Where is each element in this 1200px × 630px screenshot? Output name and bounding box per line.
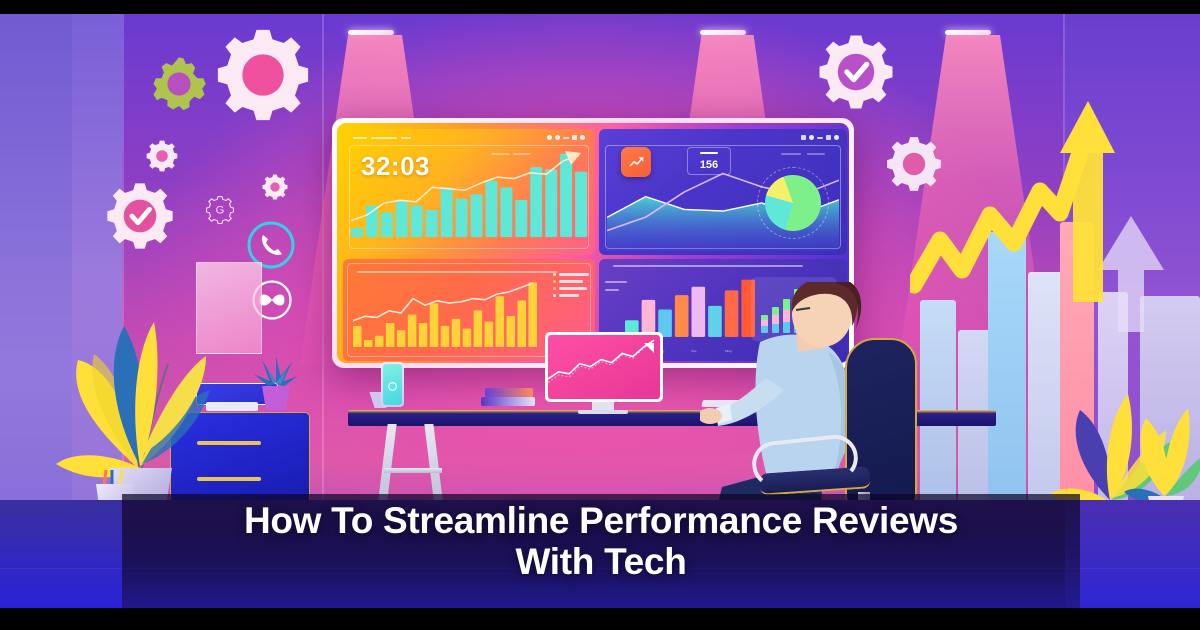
gear-icon-pink — [216, 28, 310, 122]
spotlight-fixture-left — [348, 30, 394, 35]
book-bottom — [481, 397, 535, 406]
svg-text:G: G — [216, 204, 225, 216]
panel-analytics-overview[interactable]: 156 — [599, 129, 847, 255]
title-line-2: With Tech — [122, 541, 1080, 582]
dots-icon[interactable] — [834, 135, 839, 140]
circle-icon[interactable] — [809, 135, 814, 140]
flag-icon[interactable] — [826, 135, 831, 140]
secondary-monitor[interactable] — [545, 332, 663, 402]
gear-icon-green — [150, 55, 208, 113]
succulent-small — [248, 352, 304, 416]
panel-toolbar-top-right[interactable] — [801, 135, 839, 140]
session-bar-chart — [351, 147, 587, 251]
letterbox-top — [0, 0, 1200, 14]
performance-bar-chart — [353, 277, 537, 357]
title-line-1: How To Streamline Performance Reviews — [122, 500, 1080, 541]
dots-icon[interactable] — [580, 135, 585, 140]
panel-session-timer[interactable]: 32:03 — [343, 129, 595, 255]
desk-phone[interactable] — [381, 362, 404, 407]
desk-crossbar — [384, 468, 442, 473]
gear-check-icon-right — [818, 34, 894, 110]
floor-right — [1065, 500, 1200, 608]
growth-arrow-icon — [910, 95, 1140, 335]
bars-icon[interactable] — [801, 135, 806, 140]
gear-icon-small — [146, 140, 178, 172]
gear-check-icon — [106, 182, 174, 250]
circle-icon[interactable] — [547, 135, 552, 140]
wall-frame — [196, 262, 262, 354]
trend-legend — [553, 273, 589, 301]
panel-toolbar-top-left[interactable] — [547, 135, 585, 140]
secondary-monitor-base — [578, 410, 628, 414]
square-icon[interactable] — [572, 135, 577, 140]
gear-icon-tiny — [262, 174, 288, 200]
spotlight-fixture-right — [945, 30, 991, 35]
status-pie-chart — [765, 175, 821, 231]
page-title: How To Streamline Performance Reviews Wi… — [122, 500, 1080, 583]
pencil-icon[interactable] — [817, 137, 823, 139]
pencil-icon[interactable] — [563, 137, 569, 139]
secondary-line-chart — [548, 335, 660, 399]
phone-screen — [383, 364, 402, 405]
hero-banner: 32:03 — [0, 0, 1200, 630]
book-top — [485, 388, 533, 397]
secondary-monitor-screen — [548, 335, 660, 399]
floor-left — [0, 500, 122, 608]
gear-icon-right — [886, 136, 942, 192]
gear-outline-icon: G — [206, 196, 234, 224]
letterbox-bottom — [0, 608, 1200, 630]
circle-icon[interactable] — [555, 135, 560, 140]
spotlight-fixture-center — [700, 30, 746, 35]
circle-icon — [383, 364, 402, 405]
